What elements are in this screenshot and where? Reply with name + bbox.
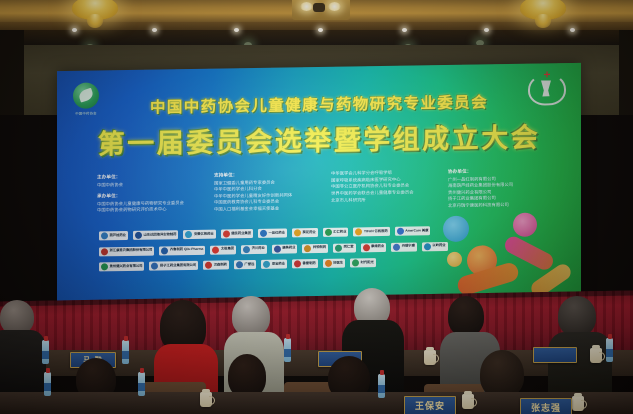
water-bottle: [606, 338, 613, 362]
sponsor-mark-icon: [352, 259, 359, 266]
led-backdrop-screen: 中国中药协会 中国中药协会儿童健康与药物研究专业委员会 第一届委员会选举暨学组成…: [57, 63, 581, 314]
sponsor-name: 浙江康恩贝集团股份有限公司: [110, 249, 153, 253]
downlight: [402, 28, 407, 32]
sponsor-mark-icon: [260, 230, 267, 237]
sponsor-logo: 健民药业集团: [221, 229, 253, 239]
sponsor-logo: 广誉远: [234, 260, 256, 269]
sponsor-mark-icon: [393, 243, 400, 250]
wall-edge-left: [0, 30, 24, 115]
wall-edge-right: [619, 30, 633, 115]
sponsor-name: 贵州健兴药业有限公司: [110, 265, 143, 269]
projector-lens: [313, 3, 325, 12]
sponsor-mark-icon: [397, 228, 404, 235]
sponsor-name: 同仁堂: [344, 246, 354, 249]
sponsor-logo: 香雪制药: [292, 259, 318, 268]
organizer-columns: 主办单位：中国中药协会承办单位：中国中药协会儿童健康与药物研究专业委员会中国中药…: [97, 167, 555, 215]
sponsor-name: 一品红药业: [269, 231, 285, 235]
organizer-line: 北京市儿科研究所: [331, 196, 438, 204]
sponsor-logo: 葫芦娃药业: [99, 231, 128, 240]
sponsor-logo: 羚锐制药: [302, 243, 328, 252]
water-bottle: [138, 372, 145, 396]
organizer-column-2: 中华医学会儿科学分会呼吸学组国家呼吸系统疾病临床医学研究中心中国非公立医疗机构协…: [331, 169, 438, 211]
sponsor-name: 山东达因海洋生物制药: [143, 233, 176, 237]
sponsor-mark-icon: [363, 244, 370, 251]
chandelier-left-icon: [72, 0, 118, 30]
downlight: [570, 28, 575, 32]
sponsor-mark-icon: [335, 244, 342, 251]
water-bottle: [378, 374, 385, 398]
tea-cup: [590, 348, 602, 363]
sponsor-logo: 扬子江药业集团有限公司: [149, 261, 198, 271]
sponsor-mark-icon: [101, 248, 108, 255]
sponsor-name: 羚锐制药: [313, 246, 326, 250]
sponsor-mark-icon: [205, 262, 212, 269]
water-bottle: [44, 372, 51, 396]
downlight: [484, 28, 489, 32]
sponsor-mark-icon: [424, 243, 431, 250]
sponsor-name: 康缘药业: [371, 245, 384, 249]
sponsor-name: AmerCare 美康: [405, 229, 428, 233]
organizer-heading: 承办单位：: [97, 192, 204, 200]
organizer-column-1: 支持单位：国家卫健委儿童用药专家委员会中华中医药学会儿科分会中华中医药学会儿童精…: [214, 171, 321, 213]
organizer-column-0: 主办单位：中国中药协会承办单位：中国中药协会儿童健康与药物研究专业委员会中国中药…: [97, 173, 204, 215]
sponsor-name: YIFAN 亿帆医药: [364, 230, 388, 234]
sponsor-logo: 山东达因海洋生物制药: [133, 230, 178, 240]
sponsor-logo: 汉森制药: [203, 260, 229, 269]
sponsor-mark-icon: [161, 247, 168, 254]
sponsor-logo: 太极集团: [210, 245, 236, 254]
sponsor-logo: 丹瑞宁康: [391, 242, 417, 251]
sponsor-logo: 同仁堂: [333, 243, 355, 252]
sponsor-logo: 济川药业: [241, 244, 267, 253]
organizer-line: 北京丹瑞宁康医药科技有限公司: [448, 201, 555, 209]
sponsor-mark-icon: [294, 229, 301, 236]
organizer-line: 中国中药协会药物研究评价技术中心: [97, 206, 204, 214]
organizer-heading: 支持单位：: [214, 171, 321, 179]
sponsor-name: 安徽亿帆药业: [194, 232, 214, 236]
sponsor-mark-icon: [325, 229, 332, 236]
screen-title-main: 中国中药协会儿童健康与药物研究专业委员会: [57, 89, 581, 119]
sponsor-row-0: 葫芦娃药业山东达因海洋生物制药安徽亿帆药业健民药业集团一品红药业葵花药业汇仁药业…: [99, 225, 463, 242]
sponsor-mark-icon: [135, 232, 142, 239]
sponsor-name: 香雪制药: [303, 262, 316, 266]
sponsor-logo: 贵州健兴药业有限公司: [99, 262, 144, 272]
projector-lamp-right: [328, 2, 341, 11]
sponsor-logo: 好医生: [323, 259, 345, 268]
organizer-column-3: 协办单位：广州一品红制药有限公司海南葫芦娃药业集团股份有限公司贵州健兴药业有限公…: [448, 167, 555, 209]
name-placard: 王保安: [404, 396, 456, 414]
sponsor-name: 好医生: [333, 261, 343, 264]
sponsor-mark-icon: [151, 263, 158, 270]
sponsor-logo: 汇仁药业: [323, 228, 349, 237]
sponsor-logo: 康缘药业: [361, 242, 387, 251]
downlight: [234, 28, 239, 32]
sponsor-name: 济川药业: [252, 247, 265, 251]
water-bottle: [122, 340, 129, 364]
sponsor-name: 时代阳光: [361, 261, 374, 265]
screen-title-sub: 第一届委员会选举暨学组成立大会: [57, 115, 581, 162]
chandelier-right-icon: [520, 0, 566, 30]
downlight: [318, 28, 323, 32]
sponsor-logo: YIFAN 亿帆医药: [353, 227, 389, 237]
organizer-heading: 协办单位：: [448, 167, 555, 175]
tea-cup: [462, 394, 474, 409]
sponsor-logo: 齐鲁制药 Qilu Pharma: [159, 245, 205, 255]
sponsor-name: 齐鲁制药 Qilu Pharma: [170, 248, 204, 252]
ceiling-recess: [0, 30, 633, 45]
sponsor-row-2: 贵州健兴药业有限公司扬子江药业集团有限公司汉森制药广誉远亚宝药业香雪制药好医生时…: [99, 256, 463, 273]
sponsor-name: 亚宝药业: [272, 262, 285, 266]
downlight: [72, 28, 77, 32]
sponsor-mark-icon: [223, 230, 230, 237]
sponsor-mark-icon: [185, 231, 192, 238]
sponsor-mark-icon: [212, 246, 219, 253]
organizer-heading: 主办单位：: [97, 173, 204, 181]
tea-cup: [200, 392, 212, 407]
sponsor-name: 健民药业集团: [231, 232, 251, 236]
sponsor-row-1: 浙江康恩贝集团股份有限公司齐鲁制药 Qilu Pharma太极集团济川药业康美药…: [99, 240, 463, 257]
sponsor-logo: 浙江康恩贝集团股份有限公司: [99, 246, 154, 256]
sponsor-mark-icon: [294, 260, 301, 267]
sponsor-mark-icon: [355, 228, 362, 235]
sponsor-logo: 一品红药业: [258, 229, 287, 238]
sponsor-mark-icon: [274, 245, 281, 252]
sponsor-mark-icon: [101, 232, 108, 239]
sponsor-mark-icon: [236, 261, 243, 268]
sponsor-name: 葵花药业: [303, 231, 316, 235]
sponsor-name: 扬子江药业集团有限公司: [160, 264, 196, 268]
organizer-line: 中国人口福利基金会幸福天使基金: [214, 205, 321, 213]
sponsor-logo: 时代阳光: [350, 258, 376, 267]
sponsor-logo: 葵花药业: [292, 228, 318, 237]
sponsor-name: 广誉远: [244, 263, 254, 266]
sponsor-name: 太极集团: [221, 248, 234, 252]
sponsor-logo: AmerCare 美康: [395, 226, 431, 236]
water-bottle: [284, 338, 291, 362]
sponsor-logo: 亚宝药业: [261, 260, 287, 269]
sponsor-name: 汉森制药: [214, 263, 227, 267]
sponsor-logo: 安徽亿帆药业: [183, 230, 215, 240]
tea-cup: [572, 396, 584, 411]
sponsor-logo-grid: 葫芦娃药业山东达因海洋生物制药安徽亿帆药业健民药业集团一品红药业葵花药业汇仁药业…: [99, 225, 463, 277]
sponsor-mark-icon: [243, 246, 250, 253]
name-placard: [533, 347, 577, 363]
sponsor-name: 丹瑞宁康: [402, 245, 415, 249]
sponsor-mark-icon: [101, 263, 108, 270]
tea-cup: [424, 350, 436, 365]
projector-lamp-left: [300, 2, 313, 11]
conference-hall-photo: 中国中药协会 中国中药协会儿童健康与药物研究专业委员会 第一届委员会选举暨学组成…: [0, 0, 633, 414]
name-placard: 张志强: [520, 398, 572, 414]
sponsor-name: 葫芦娃药业: [110, 234, 126, 238]
sponsor-name: 康美药业: [282, 247, 295, 251]
sponsor-name: 汇仁药业: [333, 230, 346, 234]
water-bottle: [42, 340, 49, 364]
sponsor-mark-icon: [304, 245, 311, 252]
sponsor-mark-icon: [325, 260, 332, 267]
sponsor-mark-icon: [263, 261, 270, 268]
sponsor-logo: 康美药业: [272, 244, 298, 253]
downlight: [152, 28, 157, 32]
